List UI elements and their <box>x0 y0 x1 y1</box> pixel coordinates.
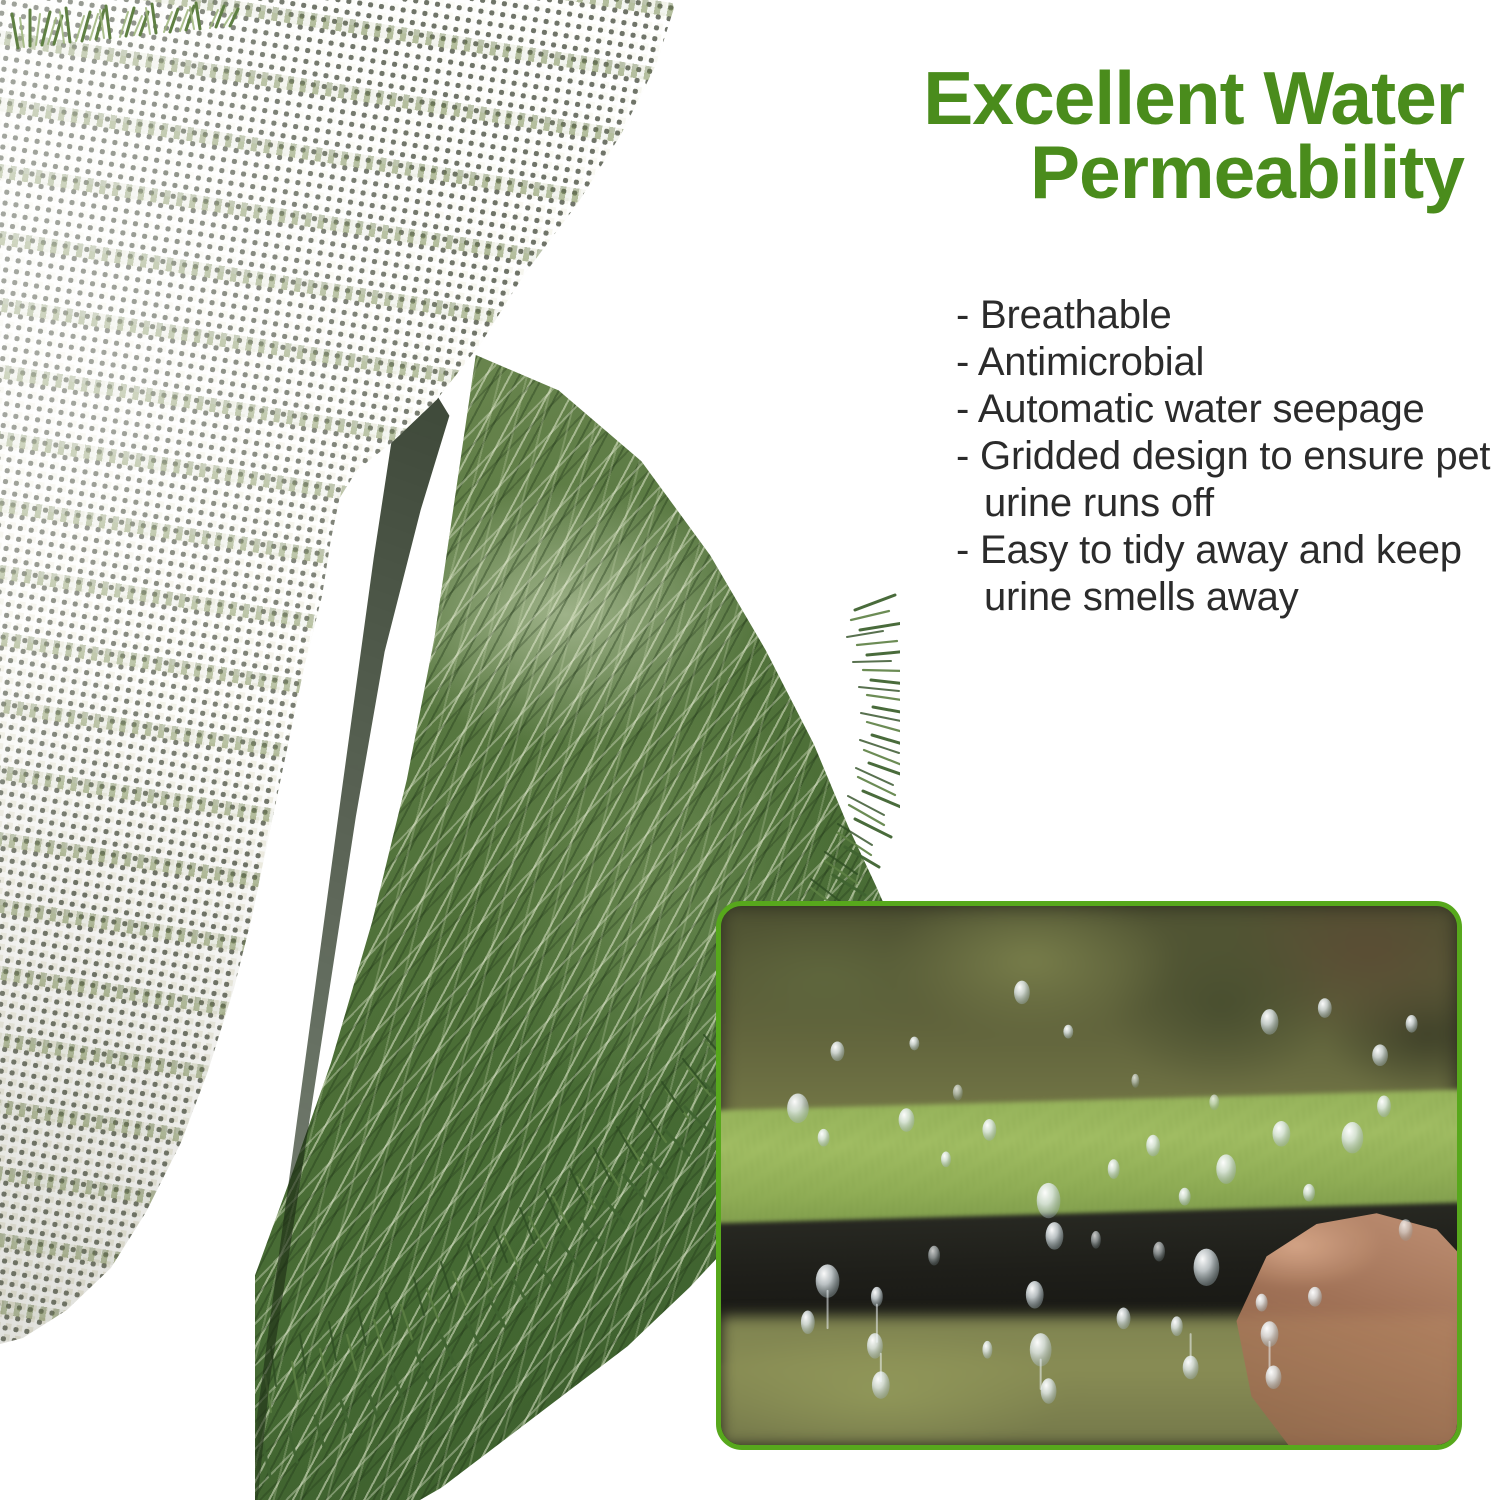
marketing-graphic: Excellent Water Permeability - Breathabl… <box>0 0 1500 1500</box>
water-drainage-inset-photo <box>716 901 1462 1450</box>
inset-photo-content <box>721 906 1457 1445</box>
headline-line-2: Permeability <box>904 136 1464 210</box>
list-item: - Antimicrobial <box>956 339 1496 386</box>
list-item: - Automatic water seepage <box>956 386 1496 433</box>
headline-line-1: Excellent Water <box>904 62 1464 136</box>
page-title: Excellent Water Permeability <box>904 62 1464 209</box>
top-edge-grass-sprigs <box>0 0 330 90</box>
water-droplets <box>721 906 1457 1445</box>
copy-block: Excellent Water Permeability - Breathabl… <box>900 0 1500 880</box>
list-item: - Breathable <box>956 292 1496 339</box>
feature-bullet-list: - Breathable - Antimicrobial - Automatic… <box>956 292 1496 621</box>
list-item: - Easy to tidy away and keep urine smell… <box>956 527 1496 621</box>
list-item: - Gridded design to ensure pet urine run… <box>956 433 1496 527</box>
